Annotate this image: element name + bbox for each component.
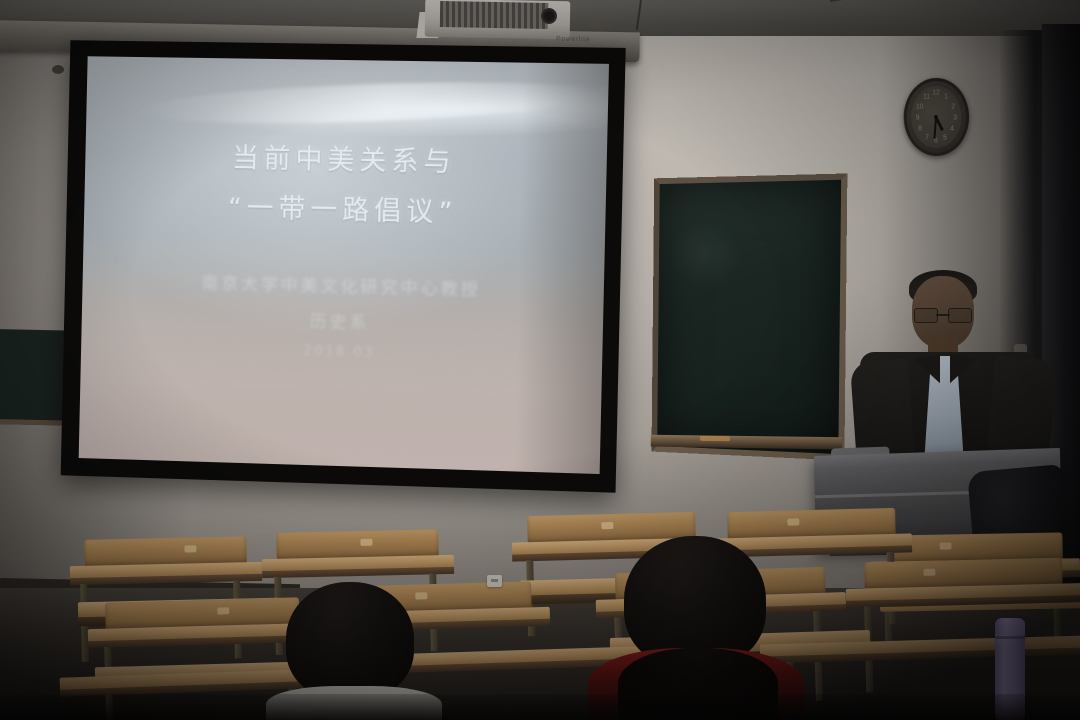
chalk-stick	[700, 436, 730, 441]
chalkboard-right	[652, 173, 848, 460]
thermos-band	[995, 636, 1025, 639]
desk-knob	[939, 542, 951, 549]
clock-numeral: 3	[953, 115, 957, 122]
student-center	[600, 536, 790, 720]
student-left-head	[286, 582, 414, 700]
clock-numeral: 9	[916, 115, 920, 122]
clock-numeral: 12	[932, 90, 939, 97]
wall-clock: 12 1 2 3 4 5 6 7 8 9 10 11	[904, 77, 969, 156]
lecture-hall-photo: 12 1 2 3 4 5 6 7 8 9 10 11 Powerlite	[0, 0, 1080, 720]
projection-screen: 当前中美关系与 “一带一路倡议” 南京大学中美文化研究中心教授 历史系 2018…	[61, 40, 626, 493]
foreground-shadow	[0, 694, 1080, 720]
clock-numeral: 4	[950, 126, 954, 133]
clock-numeral: 11	[923, 94, 930, 101]
clock-face: 12 1 2 3 4 5 6 7 8 9 10 11	[911, 86, 961, 149]
screen-right-falloff	[515, 63, 609, 474]
screen-roller-end-cap	[52, 65, 64, 74]
projector-lens-icon	[541, 8, 557, 24]
clock-numeral: 7	[925, 135, 929, 142]
eyeglass-lens-right	[948, 308, 972, 323]
projector-vent	[440, 1, 548, 29]
projector-brand-label: Powerlite	[556, 36, 590, 44]
clock-numeral: 5	[943, 135, 947, 142]
desk-knob	[601, 522, 613, 529]
projection-screen-surface: 当前中美关系与 “一带一路倡议” 南京大学中美文化研究中心教授 历史系 2018…	[79, 56, 609, 474]
clock-numeral: 10	[916, 104, 923, 111]
clock-numeral: 1	[944, 94, 948, 101]
desk-row1-left	[70, 562, 262, 586]
desk-knob	[361, 539, 373, 546]
clock-numeral: 8	[918, 126, 922, 133]
wall-outlet	[487, 575, 502, 587]
thermos-cap	[995, 618, 1025, 635]
desk-knob	[924, 569, 936, 576]
desk-knob	[218, 607, 230, 614]
desk-knob	[185, 545, 197, 552]
desk-knob	[788, 518, 800, 525]
eyeglass-lens-left	[914, 308, 938, 323]
clock-numeral: 2	[951, 103, 955, 110]
eyeglasses-icon	[914, 308, 972, 321]
clock-center-pin	[934, 115, 938, 119]
clock-minute-hand	[934, 117, 937, 139]
